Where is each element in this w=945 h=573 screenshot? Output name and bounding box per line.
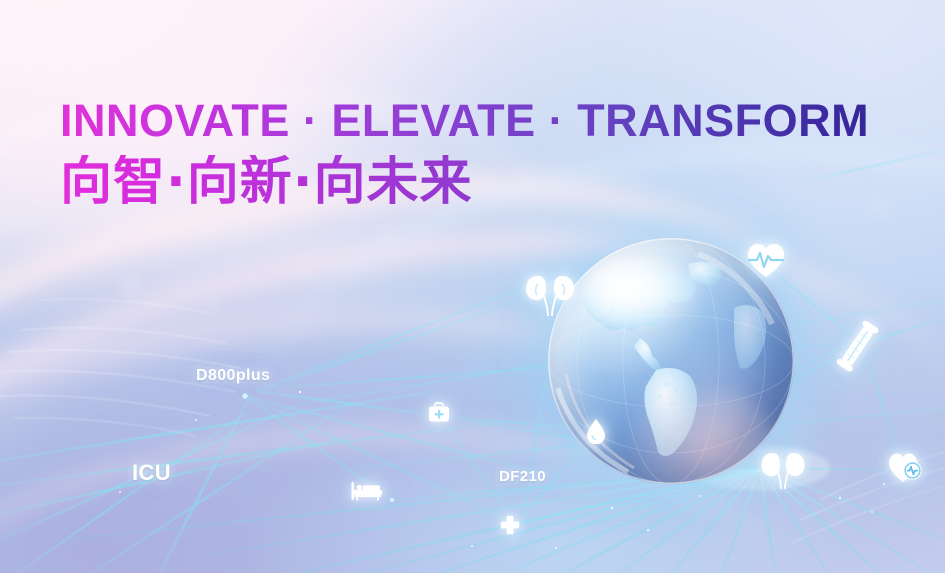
- product-label-icu: ICU: [132, 460, 171, 486]
- page-subtitle: 向智·向新·向未来: [60, 155, 869, 210]
- medical-cross-icon: [500, 515, 520, 535]
- product-label-d800plus: D800plus: [196, 367, 270, 385]
- medical-kit-icon: [428, 402, 450, 423]
- kidneys-icon: [524, 272, 576, 318]
- hospital-bed-icon: [351, 481, 383, 501]
- heart-pulse-icon: [746, 243, 786, 279]
- hero-banner: D800plus ICU DF210 INNOVATE · ELEVATE · …: [0, 0, 945, 573]
- kidneys-icon: [760, 450, 806, 490]
- heart-pulse-badge-icon: [888, 452, 924, 484]
- headline-block: INNOVATE · ELEVATE · TRANSFORM 向智·向新·向未来: [60, 98, 869, 210]
- page-title: INNOVATE · ELEVATE · TRANSFORM: [60, 98, 869, 143]
- product-label-df210: DF210: [499, 468, 546, 485]
- water-drop-icon: [586, 418, 606, 444]
